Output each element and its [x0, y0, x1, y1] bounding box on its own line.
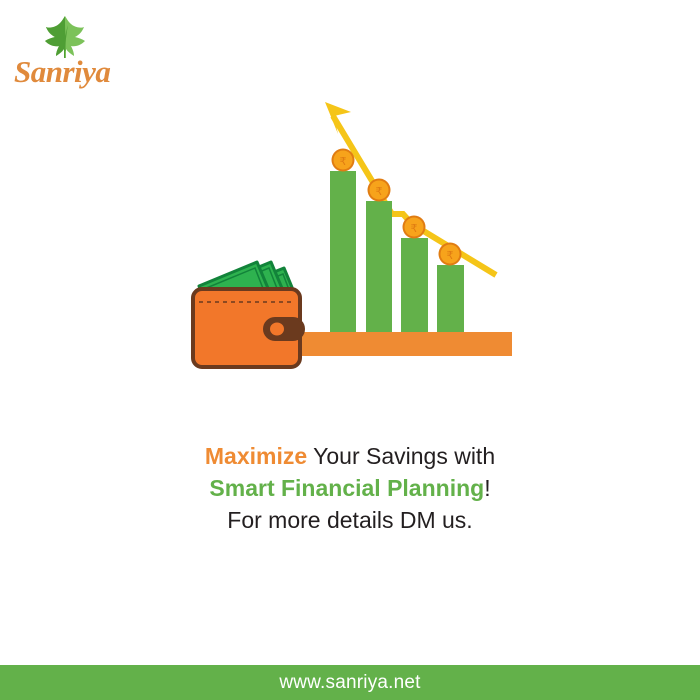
headline-line-2: Smart Financial Planning!	[0, 472, 700, 504]
savings-growth-illustration: ₹ ₹ ₹ ₹	[0, 90, 700, 380]
svg-text:₹: ₹	[340, 156, 347, 168]
website-url[interactable]: www.sanriya.net	[279, 672, 420, 694]
headline-line-2-rest: !	[484, 475, 490, 501]
headline-line-1: Maximize Your Savings with	[0, 440, 700, 472]
headline-emphasis-maximize: Maximize	[205, 443, 307, 469]
wallet-clasp	[264, 318, 304, 340]
headline-emphasis-smart-financial-planning: Smart Financial Planning	[209, 475, 484, 501]
headline-block: Maximize Your Savings with Smart Financi…	[0, 440, 700, 536]
wallet	[193, 289, 304, 367]
rupee-coin: ₹	[332, 149, 355, 172]
chart-bar	[330, 171, 356, 332]
platform-bar	[299, 332, 512, 356]
brand-wordmark: Sanriya	[14, 52, 138, 92]
headline-line-1-rest: Your Savings with	[307, 443, 495, 469]
rupee-coin: ₹	[439, 243, 462, 266]
rupee-coin: ₹	[368, 179, 391, 202]
chart-bar	[401, 238, 428, 332]
poster-canvas: Sanriya ₹ ₹	[0, 0, 700, 700]
chart-bar	[366, 201, 392, 332]
svg-text:₹: ₹	[411, 223, 418, 235]
headline-line-3: For more details DM us.	[0, 504, 700, 536]
brand-logo[interactable]: Sanriya	[8, 12, 138, 96]
footer-bar: www.sanriya.net	[0, 665, 700, 700]
chart-bar	[437, 265, 464, 332]
svg-text:₹: ₹	[447, 250, 454, 262]
svg-text:₹: ₹	[376, 186, 383, 198]
rupee-coin: ₹	[403, 216, 426, 239]
